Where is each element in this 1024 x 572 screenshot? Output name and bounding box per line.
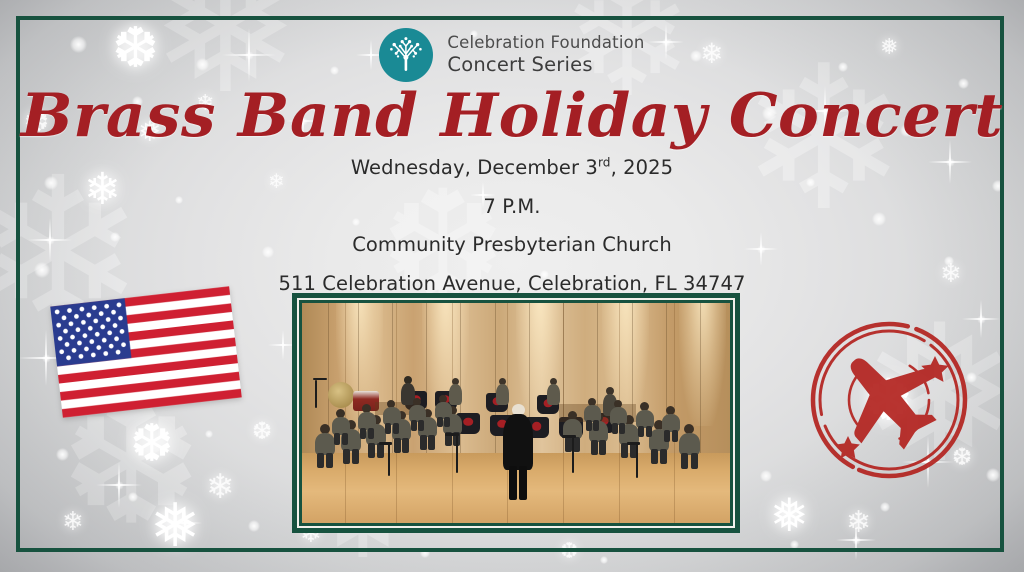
airplane-rubber-stamp-icon bbox=[796, 318, 986, 486]
music-stand bbox=[562, 435, 576, 438]
event-date-prefix: Wednesday, December 3 bbox=[351, 156, 598, 179]
event-date-ordinal: rd bbox=[598, 156, 611, 170]
concert-photo bbox=[302, 303, 730, 523]
percussion-stand bbox=[315, 380, 317, 408]
stage-riser bbox=[375, 402, 418, 415]
music-stand bbox=[636, 444, 638, 478]
page-title: Brass Band Holiday Concert bbox=[0, 86, 1024, 146]
organization-name: Celebration Foundation bbox=[447, 34, 644, 52]
music-stand bbox=[627, 442, 640, 445]
holiday-concert-poster: ❄ ❅ ❆ ❄ ❅ ❆ ❄ ❅ ❆ bbox=[0, 0, 1024, 572]
event-date-suffix: , 2025 bbox=[611, 156, 674, 179]
band-banner bbox=[537, 395, 559, 414]
band-banner bbox=[486, 393, 508, 412]
concert-photo-frame bbox=[292, 293, 740, 533]
event-venue: Community Presbyterian Church bbox=[0, 235, 1024, 255]
band-banner bbox=[490, 415, 514, 436]
event-address: 511 Celebration Avenue, Celebration, FL … bbox=[0, 274, 1024, 294]
program-name: Concert Series bbox=[447, 54, 644, 76]
band-banner bbox=[456, 413, 480, 434]
event-details: Wednesday, December 3rd, 2025 7 P.M. Com… bbox=[0, 158, 1024, 293]
stage-floor bbox=[302, 453, 730, 523]
floor-board-seam bbox=[345, 303, 346, 523]
band-banner bbox=[525, 417, 549, 438]
music-stand bbox=[445, 433, 459, 436]
tree-in-circle-icon bbox=[379, 28, 433, 82]
brand-lockup: Celebration Foundation Concert Series bbox=[0, 28, 1024, 82]
event-date: Wednesday, December 3rd, 2025 bbox=[0, 158, 1024, 178]
event-time: 7 P.M. bbox=[0, 197, 1024, 217]
gong bbox=[328, 382, 354, 408]
music-stand bbox=[456, 435, 458, 473]
music-stand bbox=[388, 444, 390, 476]
wall-light-glow bbox=[679, 303, 726, 426]
brand-text: Celebration Foundation Concert Series bbox=[447, 34, 644, 75]
music-stand bbox=[572, 437, 574, 473]
floor-board-seam bbox=[507, 303, 508, 523]
united-states-flag-icon bbox=[50, 286, 242, 418]
percussion-rack bbox=[313, 378, 327, 380]
band-banner bbox=[435, 391, 457, 410]
floor-board-seam bbox=[452, 303, 453, 523]
stage-riser bbox=[559, 404, 636, 422]
music-stand bbox=[379, 442, 392, 445]
floor-board-seam bbox=[674, 303, 675, 523]
